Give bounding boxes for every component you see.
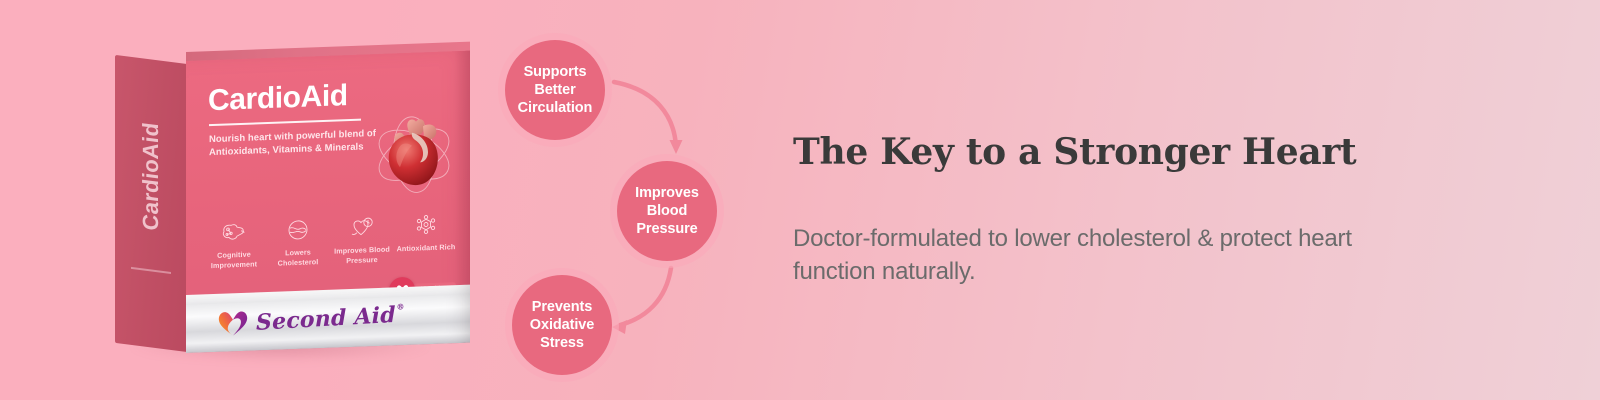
subheadline-text: Doctor-formulated to lower cholesterol &… [793,172,1413,288]
product-brand-title: CardioAid [208,81,348,116]
box-benefit-label: Improves Blood Pressure [332,244,392,265]
box-benefit-item: Lowers Cholesterol [268,216,328,268]
promo-banner: CardioAid CardioAid Nourish heart with p… [0,0,1600,400]
box-benefit-item: Cognitive Improvement [204,218,264,270]
flow-step-supports-better-circulation[interactable]: Supports Better Circulation [505,40,605,140]
box-benefit-label: Lowers Cholesterol [268,247,328,268]
brain-cognitive-icon [204,218,264,246]
flow-step-label: Prevents Oxidative Stress [512,298,612,353]
box-side-face: CardioAid [115,55,187,352]
flow-step-prevents-oxidative-stress[interactable]: Prevents Oxidative Stress [512,275,612,375]
second-aid-heart-swirl-icon [216,307,250,338]
manufacturer-name: Second Aid [256,302,396,336]
benefit-flow-diagram: Supports Better Circulation Improves Blo… [488,18,768,378]
marketing-copy-block: The Key to a Stronger Heart Doctor-formu… [793,132,1413,289]
product-package: CardioAid CardioAid Nourish heart with p… [112,52,472,362]
antioxidant-molecule-icon [396,211,456,239]
manufacturer-logo-wordmark: Second Aid® [256,302,396,336]
box-benefit-item: Improves Blood Pressure [332,213,392,265]
flow-step-label: Improves Blood Pressure [617,184,717,239]
flow-step-improves-blood-pressure[interactable]: Improves Blood Pressure [617,161,717,261]
product-tagline: Nourish heart with powerful blend of Ant… [209,127,379,160]
box-benefit-item: Antioxidant Rich [396,211,456,254]
box-brand-band: Second Aid® [186,285,470,353]
flow-step-label: Supports Better Circulation [505,63,605,118]
trademark-symbol: ® [396,301,404,311]
blood-pressure-icon [332,213,392,241]
brand-divider [209,119,361,127]
cholesterol-artery-icon [268,216,328,244]
box-benefit-label: Cognitive Improvement [204,249,264,270]
arrow-step-2-to-3 [620,268,671,325]
page-title: The Key to a Stronger Heart [793,132,1413,172]
arrow-step-1-to-2 [614,82,676,146]
anatomical-heart-icon [368,107,460,202]
box-benefit-icon-strip: Cognitive Improvement Lowers Cholesterol [204,211,456,270]
box-benefit-label: Antioxidant Rich [396,242,456,254]
box-side-brand-label: CardioAid [138,67,164,286]
